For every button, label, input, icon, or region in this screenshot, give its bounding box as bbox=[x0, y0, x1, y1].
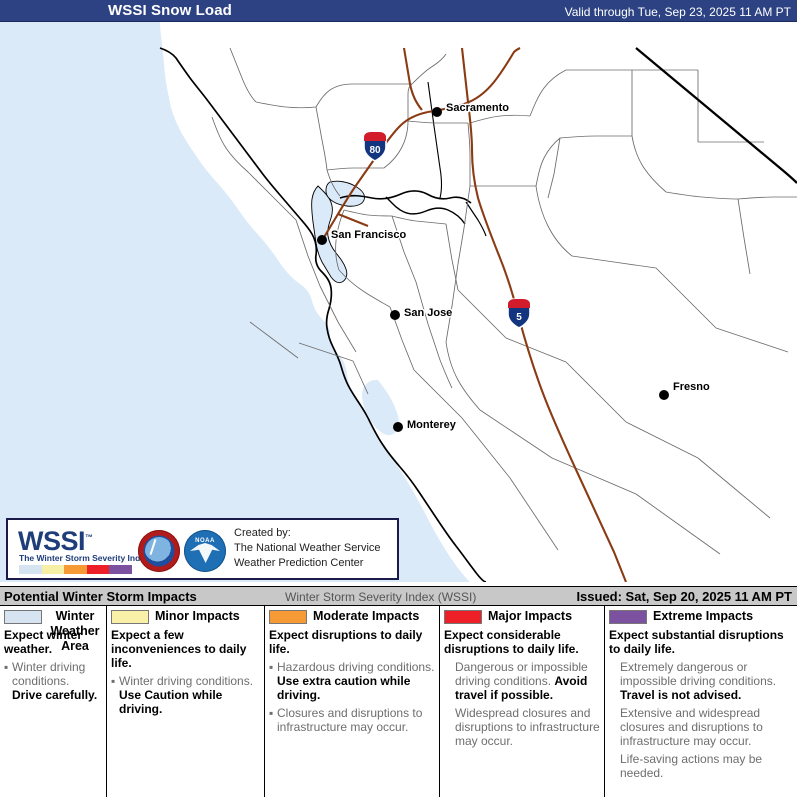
created-by-line-3: Weather Prediction Center bbox=[234, 556, 381, 571]
legend-intro-moderate-impacts: Expect disruptions to daily life. bbox=[269, 628, 435, 656]
colorbar-minor bbox=[42, 565, 65, 574]
legend-body-major-impacts: Expect considerable disruptions to daily… bbox=[444, 628, 600, 748]
legend-header-major-impacts: Major Impacts bbox=[444, 609, 600, 627]
legend-item-text: Life-saving actions may be needed. bbox=[620, 752, 793, 780]
wssi-wordmark: WSSI™ bbox=[18, 524, 93, 555]
trademark-symbol: ™ bbox=[85, 533, 93, 542]
legend-emphasis-text: Use Caution while driving. bbox=[119, 688, 222, 716]
colorbar-extreme bbox=[109, 565, 132, 574]
city-dot-san-francisco bbox=[317, 235, 327, 245]
legend-item: Dangerous or impossible driving conditio… bbox=[444, 660, 600, 702]
legend-item: ▪Hazardous driving conditions. Use extra… bbox=[269, 660, 435, 702]
city-label-san-jose: San Jose bbox=[404, 307, 452, 319]
legend-column-major-impacts: Major ImpactsExpect considerable disrupt… bbox=[440, 606, 605, 797]
impacts-legend: Winter Weather AreaExpect winter weather… bbox=[0, 606, 797, 797]
title-bar: WSSI Snow Load Valid through Tue, Sep 23… bbox=[0, 0, 797, 22]
issued-text: Issued: Sat, Sep 20, 2025 11 AM PT bbox=[576, 588, 792, 606]
legend-item-text: Winter driving conditions. Use Caution w… bbox=[119, 674, 260, 716]
legend-swatch-major-impacts bbox=[444, 610, 482, 624]
legend-intro-extreme-impacts: Expect substantial disruptions to daily … bbox=[609, 628, 793, 656]
legend-swatch-extreme-impacts bbox=[609, 610, 647, 624]
city-label-san-francisco: San Francisco bbox=[331, 229, 406, 241]
legend-item: Life-saving actions may be needed. bbox=[609, 752, 793, 780]
legend-normal-text: Extensive and widespread closures and di… bbox=[620, 706, 763, 748]
legend-normal-text: Life-saving actions may be needed. bbox=[620, 752, 762, 780]
legend-item-text: Hazardous driving conditions. Use extra … bbox=[277, 660, 435, 702]
legend-header-winter-weather-area: Winter Weather Area bbox=[4, 609, 102, 627]
city-label-fresno: Fresno bbox=[673, 381, 710, 393]
legend-normal-text: Winter driving conditions. bbox=[12, 660, 85, 688]
legend-normal-text: Closures and disruptions to infrastructu… bbox=[277, 706, 422, 734]
noaa-seal-icon: NOAA bbox=[184, 530, 226, 572]
legend-item-text: Winter driving conditions. Drive careful… bbox=[12, 660, 102, 702]
legend-item-text: Dangerous or impossible driving conditio… bbox=[455, 660, 600, 702]
legend-item: Extremely dangerous or impossible drivin… bbox=[609, 660, 793, 702]
legend-title-extreme-impacts: Extreme Impacts bbox=[653, 609, 753, 624]
bullet-icon: ▪ bbox=[269, 706, 277, 734]
legend-item: Widespread closures and disruptions to i… bbox=[444, 706, 600, 748]
legend-emphasis-text: Use extra caution while driving. bbox=[277, 674, 410, 702]
city-label-monterey: Monterey bbox=[407, 419, 457, 431]
created-by-line-1: Created by: bbox=[234, 526, 381, 541]
legend-item: ▪Closures and disruptions to infrastruct… bbox=[269, 706, 435, 734]
map-canvas[interactable]: Sacramento San Francisco San Jose Monter… bbox=[0, 22, 797, 582]
wssi-snow-load-screen: WSSI Snow Load Valid through Tue, Sep 23… bbox=[0, 0, 797, 797]
city-dot-sacramento bbox=[432, 107, 442, 117]
legend-emphasis-text: Travel is not advised. bbox=[620, 688, 741, 702]
city-dot-fresno bbox=[659, 390, 669, 400]
legend-item-text: Extremely dangerous or impossible drivin… bbox=[620, 660, 793, 702]
colorbar-winter-weather bbox=[19, 565, 42, 574]
legend-normal-text: Widespread closures and disruptions to i… bbox=[455, 706, 600, 748]
legend-normal-text: Hazardous driving conditions. bbox=[277, 660, 434, 674]
impacts-section-bar: Potential Winter Storm Impacts Winter St… bbox=[0, 586, 797, 606]
noaa-seal-label: NOAA bbox=[184, 538, 226, 544]
legend-item: Extensive and widespread closures and di… bbox=[609, 706, 793, 748]
legend-body-extreme-impacts: Expect substantial disruptions to daily … bbox=[609, 628, 793, 780]
city-label-sacramento: Sacramento bbox=[446, 102, 509, 114]
page-title: WSSI Snow Load bbox=[108, 2, 232, 20]
nws-seal-icon bbox=[138, 530, 180, 572]
wssi-tagline: The Winter Storm Severity Index bbox=[19, 553, 150, 563]
legend-item-text: Extensive and widespread closures and di… bbox=[620, 706, 793, 748]
legend-swatch-minor-impacts bbox=[111, 610, 149, 624]
colorbar-moderate bbox=[64, 565, 87, 574]
wssi-color-bar bbox=[19, 565, 132, 574]
noaa-seal-bird bbox=[190, 543, 220, 563]
legend-body-moderate-impacts: Expect disruptions to daily life.▪Hazard… bbox=[269, 628, 435, 734]
legend-swatch-moderate-impacts bbox=[269, 610, 307, 624]
bullet-icon: ▪ bbox=[4, 660, 12, 702]
legend-header-moderate-impacts: Moderate Impacts bbox=[269, 609, 435, 627]
legend-header-extreme-impacts: Extreme Impacts bbox=[609, 609, 793, 627]
bullet-icon: ▪ bbox=[111, 674, 119, 716]
legend-normal-text: Extremely dangerous or impossible drivin… bbox=[620, 660, 776, 688]
shield-number-5: 5 bbox=[516, 312, 522, 323]
created-by-block: Created by: The National Weather Service… bbox=[234, 526, 381, 571]
legend-title-minor-impacts: Minor Impacts bbox=[155, 609, 240, 624]
legend-column-moderate-impacts: Moderate ImpactsExpect disruptions to da… bbox=[265, 606, 440, 797]
city-dot-san-jose bbox=[390, 310, 400, 320]
valid-through-text: Valid through Tue, Sep 23, 2025 11 AM PT bbox=[565, 4, 791, 20]
wssi-wordmark-text: WSSI bbox=[18, 526, 85, 556]
legend-body-minor-impacts: Expect a few inconveniences to daily lif… bbox=[111, 628, 260, 716]
legend-normal-text: Winter driving conditions. bbox=[119, 674, 253, 688]
wssi-logo-panel: WSSI™ The Winter Storm Severity Index NO… bbox=[6, 518, 399, 580]
legend-intro-major-impacts: Expect considerable disruptions to daily… bbox=[444, 628, 600, 656]
colorbar-major bbox=[87, 565, 110, 574]
impacts-heading: Potential Winter Storm Impacts bbox=[4, 588, 197, 606]
bullet-icon: ▪ bbox=[269, 660, 277, 702]
legend-column-winter-weather-area: Winter Weather AreaExpect winter weather… bbox=[0, 606, 107, 797]
nws-seal-inner bbox=[145, 537, 173, 565]
legend-emphasis-text: Drive carefully. bbox=[12, 688, 97, 702]
legend-swatch-winter-weather-area bbox=[4, 610, 42, 624]
map-svg: Sacramento San Francisco San Jose Monter… bbox=[0, 22, 797, 582]
city-dot-monterey bbox=[393, 422, 403, 432]
legend-column-minor-impacts: Minor ImpactsExpect a few inconveniences… bbox=[107, 606, 265, 797]
legend-item: ▪Winter driving conditions. Use Caution … bbox=[111, 674, 260, 716]
legend-intro-minor-impacts: Expect a few inconveniences to daily lif… bbox=[111, 628, 260, 670]
legend-column-extreme-impacts: Extreme ImpactsExpect substantial disrup… bbox=[605, 606, 797, 797]
created-by-line-2: The National Weather Service bbox=[234, 541, 381, 556]
legend-item-text: Closures and disruptions to infrastructu… bbox=[277, 706, 435, 734]
legend-item: ▪Winter driving conditions. Drive carefu… bbox=[4, 660, 102, 702]
shield-number-80: 80 bbox=[369, 145, 381, 156]
legend-header-minor-impacts: Minor Impacts bbox=[111, 609, 260, 627]
wssi-subtitle: Winter Storm Severity Index (WSSI) bbox=[285, 589, 476, 606]
legend-title-moderate-impacts: Moderate Impacts bbox=[313, 609, 419, 624]
legend-title-major-impacts: Major Impacts bbox=[488, 609, 572, 624]
legend-item-text: Widespread closures and disruptions to i… bbox=[455, 706, 600, 748]
